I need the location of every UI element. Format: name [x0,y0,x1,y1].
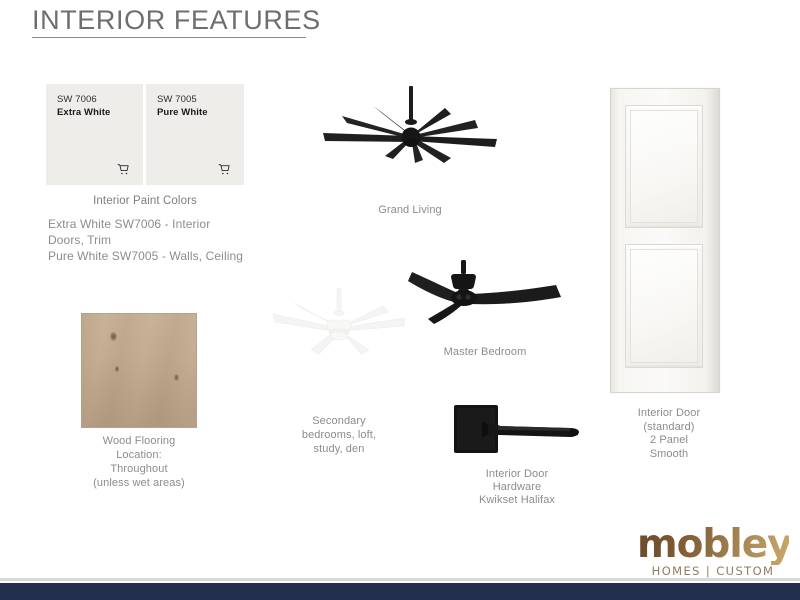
wood-flooring-caption: Wood Flooring Location: Throughout (unle… [66,434,212,490]
ceiling-fan-secondary-image [270,288,410,368]
slide-canvas: INTERIOR FEATURES SW 7006 Extra White SW… [0,0,800,600]
paint-swatch-extra-white[interactable]: SW 7006 Extra White [46,84,143,185]
mobley-logo: mobley HOMES | CUSTOM [637,525,789,578]
interior-door-image [610,88,720,393]
fan-secondary-caption: Secondary bedrooms, loft, study, den [276,414,402,456]
paint-description: Extra White SW7006 - Interior Doors, Tri… [48,216,248,264]
wood-flooring-swatch [81,313,197,428]
door-panel-bottom [625,244,703,368]
paint-swatch-pure-white[interactable]: SW 7005 Pure White [146,84,244,185]
shopping-cart-icon[interactable] [117,163,130,176]
wood-knot [115,366,119,372]
logo-wordmark: mobley [637,525,789,565]
interior-door-caption: Interior Door (standard) 2 Panel Smooth [602,407,736,461]
paint-name-label: Pure White [157,106,244,119]
paint-code-label: SW 7006 [57,93,143,106]
ceiling-fan-master-bedroom-image [398,260,572,338]
logo-tagline: HOMES | CUSTOM [637,564,789,578]
page-title-block: INTERIOR FEATURES [32,4,322,38]
wood-knot [174,374,179,381]
paint-code-label: SW 7005 [157,93,244,106]
paint-name-label: Extra White [57,106,143,119]
footer-accent-bar [0,583,800,600]
paint-colors-caption: Interior Paint Colors [46,194,244,208]
door-hardware-image [452,401,582,463]
wood-knot [110,332,117,341]
fan-master-bedroom-caption: Master Bedroom [410,345,560,359]
shopping-cart-icon[interactable] [218,163,231,176]
fan-grand-living-caption: Grand Living [330,203,490,217]
page-title: INTERIOR FEATURES [32,4,322,36]
footer-divider [0,578,800,581]
ceiling-fan-grand-living-image [318,86,504,186]
title-underline [32,37,306,38]
door-panel-top [625,105,703,228]
paint-swatch-card: SW 7006 Extra White SW 7005 Pure White [46,84,244,185]
door-hardware-caption: Interior Door Hardware Kwikset Halifax [450,468,584,507]
